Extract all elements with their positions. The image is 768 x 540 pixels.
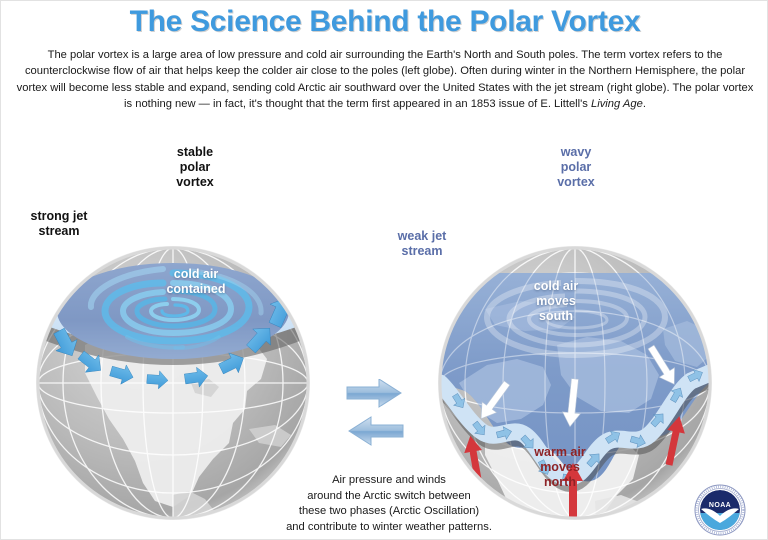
- intro-paragraph: The polar vortex is a large area of low …: [15, 47, 755, 113]
- page-title: The Science Behind the Polar Vortex: [1, 5, 768, 39]
- label-cold-air-contained: cold air contained: [141, 267, 251, 297]
- intro-line-2: counterclockwise flow of air that helps …: [25, 65, 698, 77]
- phase-switch-arrows: [345, 379, 405, 451]
- infographic-root: The Science Behind the Polar Vortex The …: [0, 0, 768, 540]
- intro-line-4-italic: Living Age: [591, 98, 643, 110]
- label-wavy-polar-vortex: wavy polar vortex: [523, 145, 629, 190]
- intro-line-4-post: .: [643, 98, 646, 110]
- label-weak-jet-stream: weak jet stream: [375, 229, 469, 259]
- bottom-caption: Air pressure and winds around the Arctic…: [253, 473, 525, 535]
- label-cold-air-moves-south: cold air moves south: [513, 279, 599, 324]
- arrow-left-icon: [349, 417, 403, 445]
- noaa-logo: NOAA: [693, 483, 747, 537]
- intro-line-1: The polar vortex is a large area of low …: [48, 49, 723, 61]
- label-warm-air-moves-north: warm air moves north: [517, 445, 603, 490]
- arrow-right-icon: [347, 379, 401, 407]
- logo-wordmark: NOAA: [709, 502, 731, 509]
- label-strong-jet-stream: strong jet stream: [9, 209, 109, 239]
- label-stable-polar-vortex: stable polar vortex: [143, 145, 247, 190]
